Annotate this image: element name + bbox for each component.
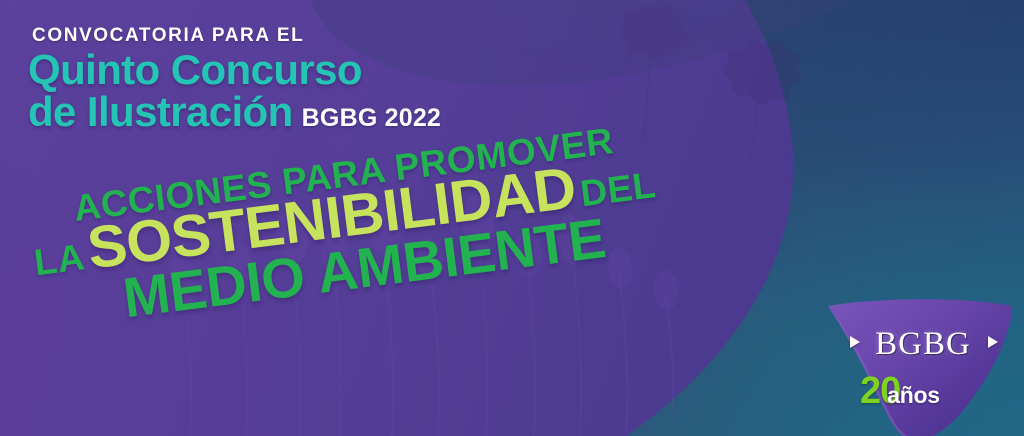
logo-wordmark: BGBG xyxy=(848,328,998,361)
slogan-suffix-del: del xyxy=(578,166,658,212)
header-text-block: CONVOCATORIA PARA EL Quinto Concurso de … xyxy=(28,26,441,132)
title-line-one: Quinto Concurso xyxy=(28,49,441,90)
bgbg-logo[interactable]: BGBG 20años xyxy=(812,292,1024,436)
title-line-two: de Ilustración xyxy=(28,88,293,135)
anniversary-word: años xyxy=(887,382,939,408)
logo-content: BGBG 20años xyxy=(812,292,1024,436)
kicker-text: CONVOCATORIA PARA EL xyxy=(32,26,441,45)
contest-banner: CONVOCATORIA PARA EL Quinto Concurso de … xyxy=(0,0,1024,436)
edition-label: BGBG 2022 xyxy=(302,104,441,132)
title-line-two-row: de IlustraciónBGBG 2022 xyxy=(28,91,441,132)
logo-anniversary: 20años xyxy=(860,372,1000,410)
slogan-prefix-la: La xyxy=(32,238,87,281)
